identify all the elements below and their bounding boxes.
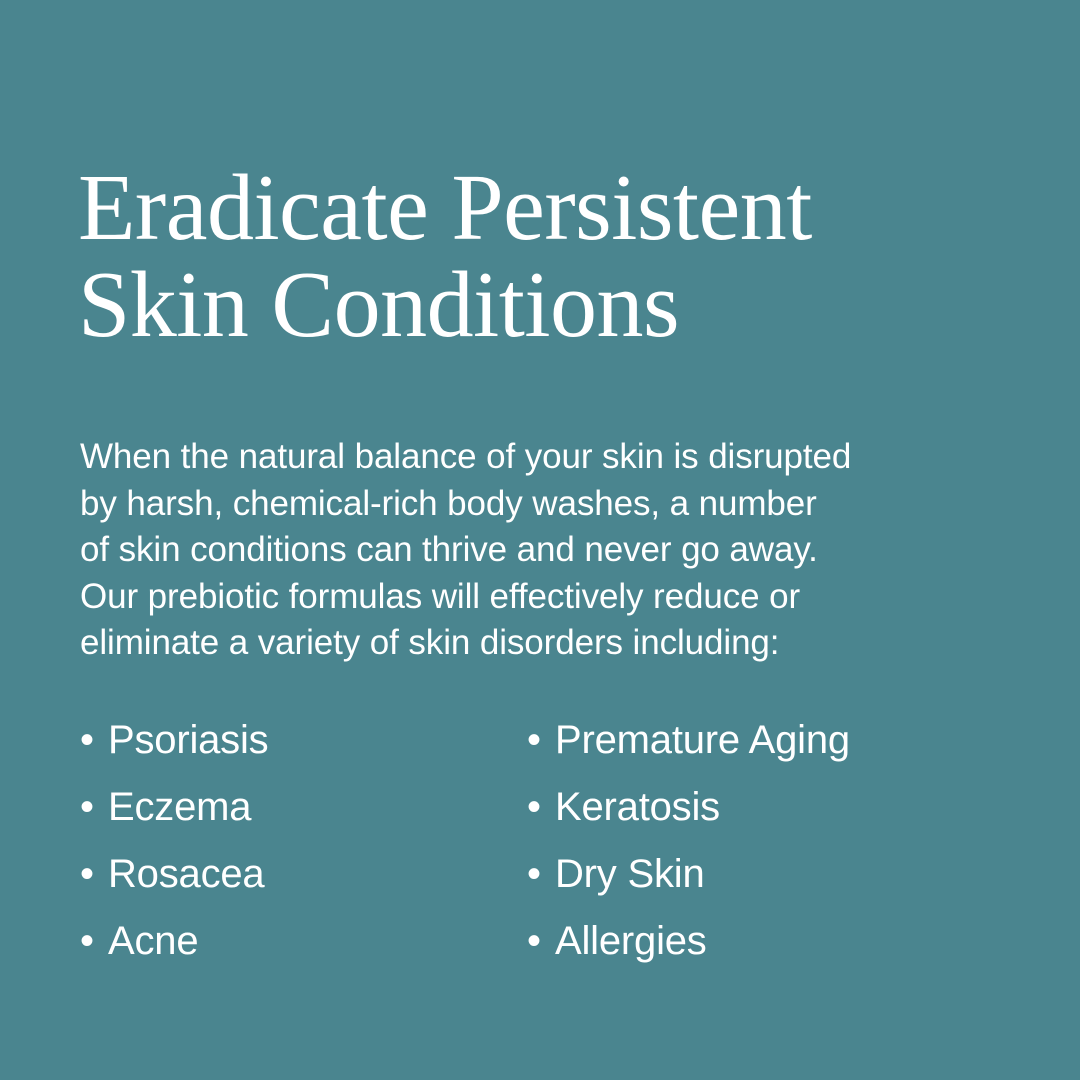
bullet-icon: •	[80, 718, 108, 762]
promo-slide: Eradicate Persistent Skin Conditions Whe…	[0, 0, 1080, 1080]
list-item-label: Eczema	[108, 785, 251, 829]
list-item-label: Dry Skin	[555, 852, 705, 896]
bullet-icon: •	[80, 852, 108, 896]
intro-paragraph-line-2: by harsh, chemical-rich body washes, a n…	[80, 481, 980, 528]
bullet-icon: •	[527, 718, 555, 762]
list-item: • Acne	[80, 919, 527, 986]
page-title-line-1: Eradicate Persistent	[78, 160, 998, 257]
list-item-label: Premature Aging	[555, 718, 850, 762]
conditions-column-left: • Psoriasis • Eczema • Rosacea • Acne	[80, 718, 527, 986]
list-item-label: Allergies	[555, 919, 707, 963]
bullet-icon: •	[80, 785, 108, 829]
list-item: • Keratosis	[527, 785, 974, 852]
list-item-label: Keratosis	[555, 785, 720, 829]
bullet-icon: •	[527, 785, 555, 829]
bullet-icon: •	[527, 852, 555, 896]
intro-paragraph-line-5: eliminate a variety of skin disorders in…	[80, 620, 980, 667]
list-item: • Allergies	[527, 919, 974, 986]
intro-paragraph-line-4: Our prebiotic formulas will effectively …	[80, 574, 980, 621]
list-item: • Eczema	[80, 785, 527, 852]
intro-paragraph-line-1: When the natural balance of your skin is…	[80, 434, 980, 481]
list-item-label: Acne	[108, 919, 198, 963]
bullet-icon: •	[527, 919, 555, 963]
list-item: • Psoriasis	[80, 718, 527, 785]
intro-paragraph-line-3: of skin conditions can thrive and never …	[80, 527, 980, 574]
page-title-line-2: Skin Conditions	[78, 257, 998, 354]
list-item: • Dry Skin	[527, 852, 974, 919]
intro-paragraph: When the natural balance of your skin is…	[80, 434, 980, 667]
list-item-label: Psoriasis	[108, 718, 268, 762]
conditions-column-right: • Premature Aging • Keratosis • Dry Skin…	[527, 718, 974, 986]
list-item: • Rosacea	[80, 852, 527, 919]
page-title: Eradicate Persistent Skin Conditions	[78, 160, 998, 354]
bullet-icon: •	[80, 919, 108, 963]
list-item: • Premature Aging	[527, 718, 974, 785]
conditions-list: • Psoriasis • Eczema • Rosacea • Acne • …	[80, 718, 1000, 986]
list-item-label: Rosacea	[108, 852, 264, 896]
